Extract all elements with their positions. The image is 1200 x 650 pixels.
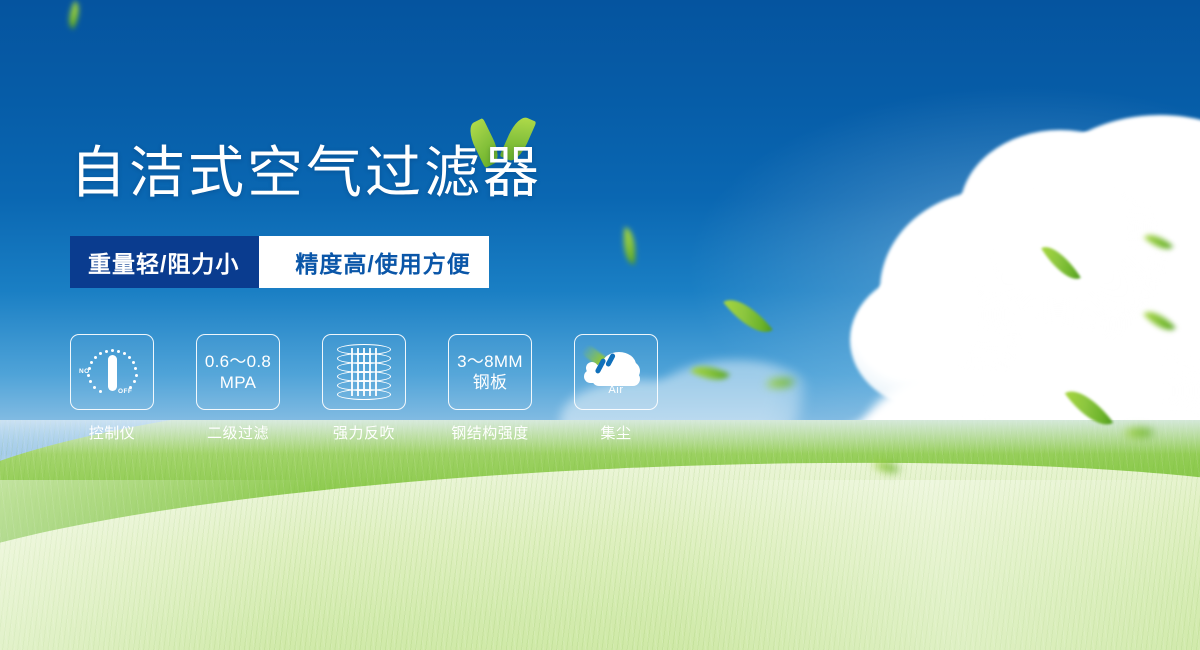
feature-label: 控制仪 <box>89 422 136 443</box>
filter-pressure-text: 0.6～0.8 MPA <box>205 351 271 394</box>
feature-icon-box: NO OFF <box>70 334 154 410</box>
feature-icon-box: 0.6～0.8 MPA <box>196 334 280 410</box>
air-cloud-icon: Air <box>584 344 648 400</box>
steel-plate-text: 3～8MM 钢板 <box>457 351 523 394</box>
feature-label: 二级过滤 <box>207 422 269 443</box>
feature-item-controller[interactable]: NO OFF <box>70 334 154 443</box>
feature-item-steel[interactable]: 3～8MM 钢板 钢结构强度 <box>448 334 532 443</box>
air-label: Air <box>584 384 648 396</box>
feature-icon-box: Air <box>574 334 658 410</box>
feature-item-dust-collection[interactable]: Air 集尘 <box>574 334 658 443</box>
feature-icon-box <box>322 334 406 410</box>
filter-pressure-line2: MPA <box>205 372 271 393</box>
subtitle-divider-slash <box>259 236 289 288</box>
gauge-label-off: OFF <box>118 388 132 395</box>
subtitle-left-text: 重量轻/阻力小 <box>70 236 259 288</box>
feature-item-blowback[interactable]: 强力反吹 <box>322 334 406 443</box>
grass-field <box>0 420 1200 650</box>
gauge-needle <box>108 355 117 391</box>
subtitle-bar: 重量轻/阻力小 精度高/使用方便 <box>70 236 489 288</box>
steel-plate-line2: 钢板 <box>457 372 523 393</box>
promo-banner: 自洁式空气过滤器 重量轻/阻力小 精度高/使用方便 NO OFF <box>0 0 1200 650</box>
feature-list: NO OFF <box>70 334 658 443</box>
filter-pressure-line1: 0.6～0.8 <box>205 351 271 372</box>
feature-icon-box: 3～8MM 钢板 <box>448 334 532 410</box>
subtitle-right-text: 精度高/使用方便 <box>289 236 488 288</box>
feature-label: 钢结构强度 <box>451 422 529 443</box>
feature-label: 集尘 <box>600 422 631 443</box>
steel-plate-line1: 3～8MM <box>457 351 523 372</box>
page-title: 自洁式空气过滤器 <box>70 142 542 204</box>
gauge-icon: NO OFF <box>80 343 144 401</box>
feature-label: 强力反吹 <box>333 422 395 443</box>
feature-item-filter[interactable]: 0.6～0.8 MPA 二级过滤 <box>196 334 280 443</box>
blowback-icon <box>337 344 391 400</box>
